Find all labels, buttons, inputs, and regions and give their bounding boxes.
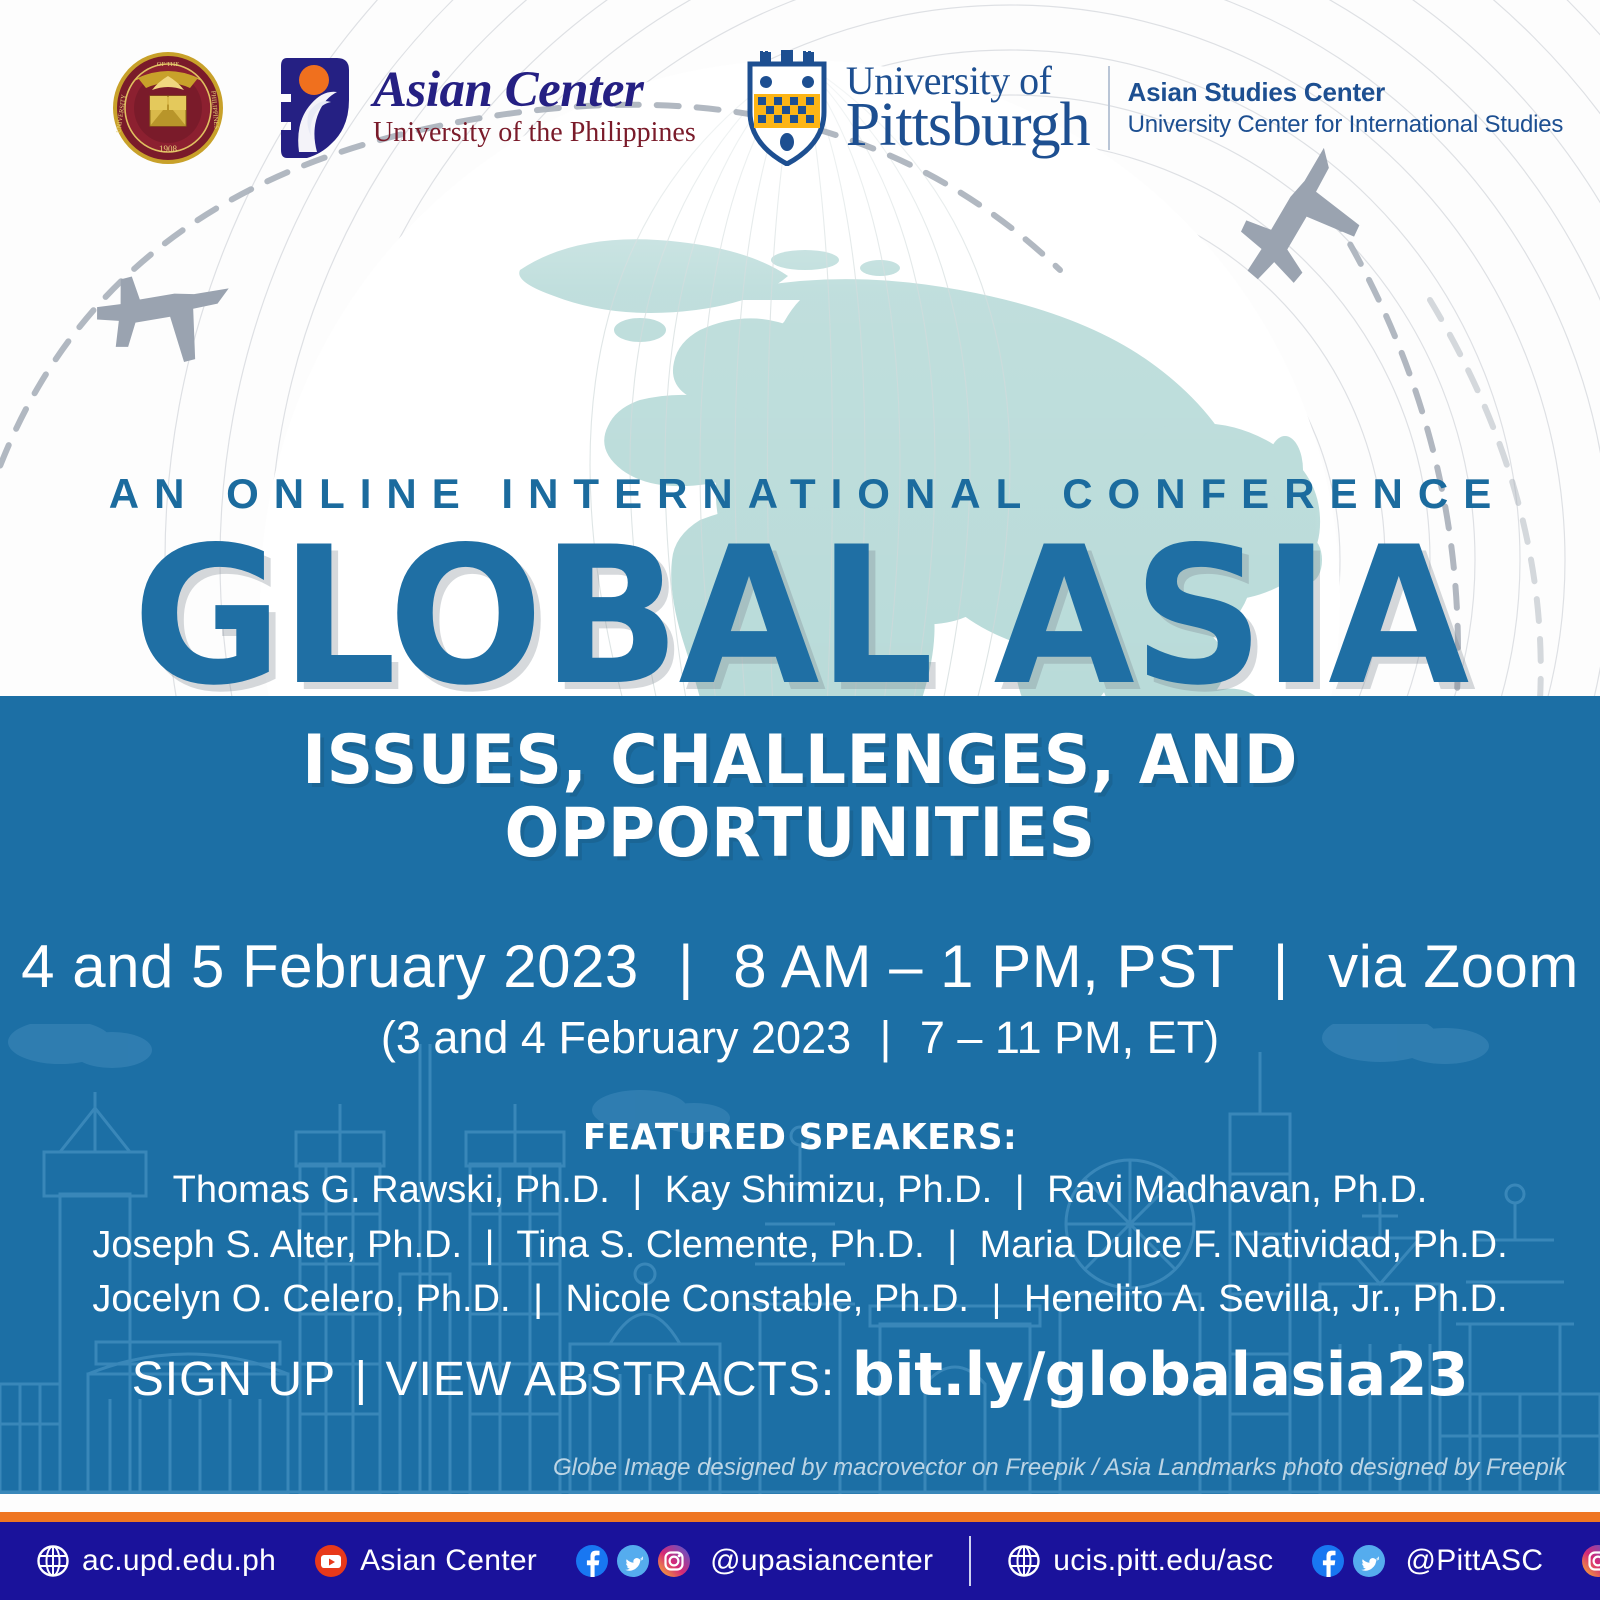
up-social-handle: @upasiancenter <box>710 1544 933 1578</box>
footer-item-pitt-instagram[interactable]: @pittasianstudiescenter <box>1581 1544 1600 1578</box>
signup-separator: | <box>341 1353 381 1406</box>
speaker-name: Thomas G. Rawski, Ph.D. <box>173 1169 610 1211</box>
speaker-row: Jocelyn O. Celero, Ph.D. | Nicole Consta… <box>0 1272 1600 1327</box>
speaker-separator: | <box>473 1224 507 1266</box>
pitt-social-handle: @PittASC <box>1405 1544 1543 1578</box>
speaker-name: Jocelyn O. Celero, Ph.D. <box>92 1278 510 1320</box>
asian-center-logo: Asian Center University of the Philippin… <box>279 56 696 160</box>
speaker-row: Joseph S. Alter, Ph.D. | Tina S. Clement… <box>0 1218 1600 1273</box>
youtube-icon <box>314 1544 348 1578</box>
up-seal-icon: 1908 OF THE UNIVERSITY PHILIPPINES <box>112 52 224 164</box>
schedule-secondary: (3 and 4 February 2023 | 7 – 11 PM, ET) <box>0 1012 1600 1064</box>
speaker-separator: | <box>980 1278 1014 1320</box>
ucis-unit-name: University Center for International Stud… <box>1128 111 1564 139</box>
asian-center-subtitle: University of the Philippines <box>373 117 696 149</box>
page-subtitle: ISSUES, CHALLENGES, AND OPPORTUNITIES <box>40 724 1560 871</box>
speaker-separator: | <box>1003 1169 1037 1211</box>
page-title-shadow-copy: GLOBAL ASIA <box>32 696 1568 712</box>
speaker-name: Ravi Madhavan, Ph.D. <box>1047 1169 1427 1211</box>
footer-divider <box>969 1536 971 1586</box>
up-website-text: ac.upd.edu.ph <box>82 1544 276 1578</box>
globe-icon <box>36 1544 70 1578</box>
subtitle-line-2: OPPORTUNITIES <box>505 794 1096 873</box>
instagram-icon[interactable] <box>657 1544 691 1578</box>
logo-divider <box>1108 66 1110 150</box>
schedule-separator-2: | <box>1251 933 1311 1000</box>
pittsburgh-logo: University of Pittsburgh Asian Studies C… <box>744 50 1563 166</box>
footer-group-pitt: ucis.pitt.edu/asc @PittASC <box>1007 1544 1600 1578</box>
registration-url[interactable]: bit.ly/globalasia23 <box>852 1340 1469 1410</box>
sponsor-logo-bar: 1908 OF THE UNIVERSITY PHILIPPINES Asian… <box>0 44 1600 172</box>
pitt-shield-icon <box>744 50 830 166</box>
featured-speakers-heading: FEATURED SPEAKERS: <box>40 1117 1560 1158</box>
asian-studies-center-unit: Asian Studies Center University Center f… <box>1128 77 1564 139</box>
footer-group-up: ac.upd.edu.ph Asian Center <box>36 1544 933 1578</box>
footer-item-pitt-social[interactable]: @PittASC <box>1311 1544 1543 1578</box>
conference-poster: 1908 OF THE UNIVERSITY PHILIPPINES Asian… <box>0 0 1600 1600</box>
facebook-icon[interactable] <box>1311 1544 1345 1578</box>
schedule-secondary-separator: | <box>864 1012 908 1063</box>
signup-line: SIGN UP | VIEW ABSTRACTS: bit.ly/globala… <box>0 1340 1600 1410</box>
facebook-icon[interactable] <box>575 1544 609 1578</box>
footer-bar: ac.upd.edu.ph Asian Center <box>0 1522 1600 1600</box>
speaker-name: Maria Dulce F. Natividad, Ph.D. <box>980 1224 1508 1266</box>
speaker-name: Henelito A. Sevilla, Jr., Ph.D. <box>1024 1278 1508 1320</box>
featured-speakers-list: Thomas G. Rawski, Ph.D. | Kay Shimizu, P… <box>0 1163 1600 1327</box>
image-credits: Globe Image designed by macrovector on F… <box>0 1454 1600 1482</box>
subtitle-line-1: ISSUES, CHALLENGES, AND <box>302 721 1298 800</box>
schedule-primary: 4 and 5 February 2023 | 8 AM – 1 PM, PST… <box>0 932 1600 1001</box>
speaker-row: Thomas G. Rawski, Ph.D. | Kay Shimizu, P… <box>0 1163 1600 1218</box>
instagram-icon[interactable] <box>1581 1544 1600 1578</box>
schedule-secondary-dates: (3 and 4 February 2023 <box>381 1012 851 1063</box>
twitter-icon[interactable] <box>616 1544 650 1578</box>
orange-divider <box>0 1512 1600 1522</box>
footer-item-up-youtube[interactable]: Asian Center <box>314 1544 537 1578</box>
pitt-website-text: ucis.pitt.edu/asc <box>1053 1544 1273 1578</box>
speaker-separator: | <box>935 1224 969 1266</box>
pittsburgh-wordmark: University of Pittsburgh <box>846 63 1090 153</box>
speaker-name: Nicole Constable, Ph.D. <box>566 1278 969 1320</box>
speaker-name: Joseph S. Alter, Ph.D. <box>92 1224 462 1266</box>
view-abstracts-label: VIEW ABSTRACTS: <box>385 1353 835 1406</box>
schedule-separator: | <box>656 933 716 1000</box>
schedule-secondary-time: 7 – 11 PM, ET) <box>920 1012 1219 1063</box>
speaker-name: Kay Shimizu, Ph.D. <box>665 1169 992 1211</box>
page-title: GLOBAL ASIA <box>32 522 1568 712</box>
svg-text:OF THE: OF THE <box>157 61 179 68</box>
asc-unit-name: Asian Studies Center <box>1128 77 1564 108</box>
footer-item-up-social[interactable]: @upasiancenter <box>575 1544 933 1578</box>
speaker-separator: | <box>620 1169 654 1211</box>
speaker-name: Tina S. Clemente, Ph.D. <box>516 1224 924 1266</box>
asian-center-mark-icon <box>279 56 365 160</box>
speaker-separator: | <box>521 1278 555 1320</box>
svg-text:1908: 1908 <box>159 144 178 154</box>
globe-icon <box>1007 1544 1041 1578</box>
schedule-dates: 4 and 5 February 2023 <box>21 933 639 1000</box>
signup-label: SIGN UP <box>132 1353 336 1406</box>
schedule-time: 8 AM – 1 PM, PST <box>733 933 1233 1000</box>
up-youtube-text: Asian Center <box>360 1544 537 1578</box>
footer-item-up-website[interactable]: ac.upd.edu.ph <box>36 1544 276 1578</box>
asian-center-title: Asian Center <box>373 66 696 116</box>
pittsburgh-line2: Pittsburgh <box>846 98 1090 153</box>
footer-item-pitt-website[interactable]: ucis.pitt.edu/asc <box>1007 1544 1273 1578</box>
schedule-platform: via Zoom <box>1328 933 1579 1000</box>
twitter-icon[interactable] <box>1352 1544 1386 1578</box>
